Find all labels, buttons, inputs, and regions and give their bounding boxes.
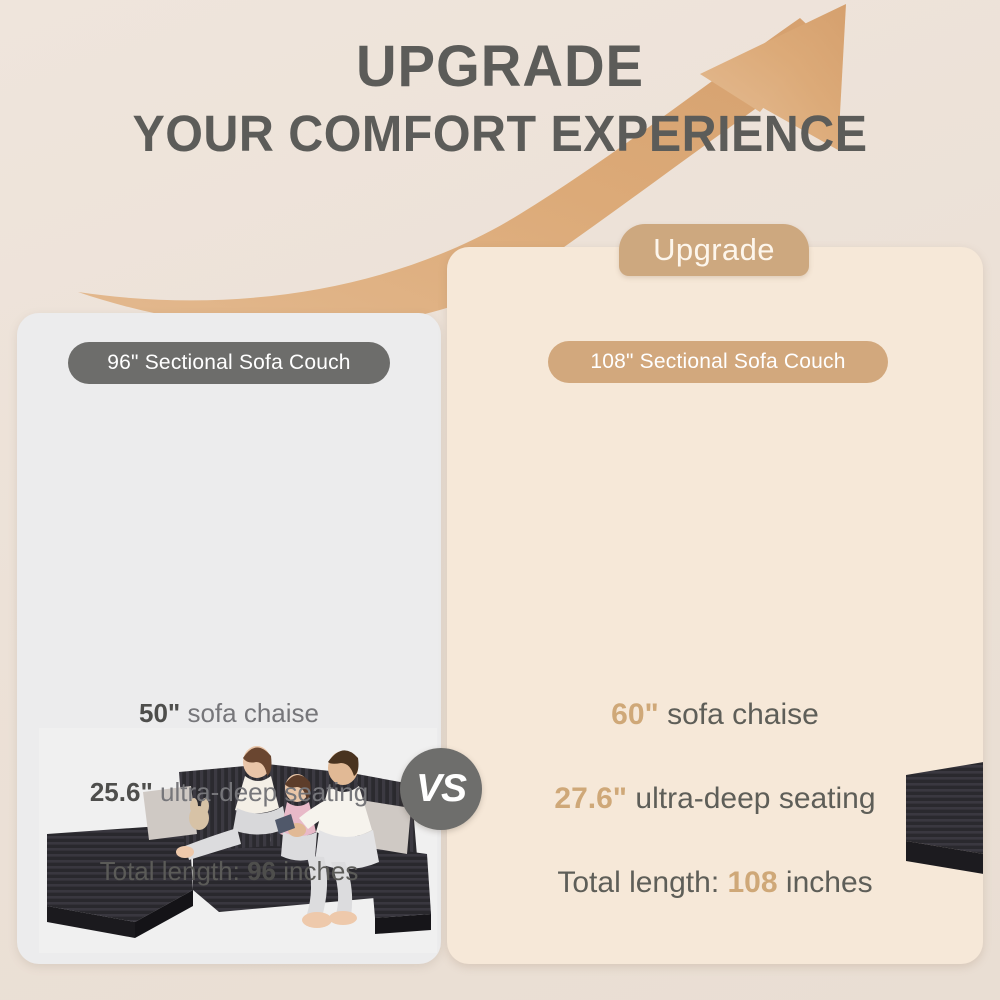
spec-row-chaise: 50" sofa chaise (17, 698, 441, 729)
right-panel-title: 108" Sectional Sofa Couch (590, 350, 845, 374)
spec-row-seating: 25.6" ultra-deep seating (17, 777, 441, 808)
right-chaise-value: 60" (611, 698, 659, 731)
upgrade-badge: Upgrade (619, 224, 809, 276)
headline-line-2: YOUR COMFORT EXPERIENCE (25, 106, 975, 162)
right-chaise-label: sofa chaise (667, 698, 819, 731)
page-title: UPGRADE YOUR COMFORT EXPERIENCE (0, 36, 1000, 162)
left-panel-title: 96" Sectional Sofa Couch (107, 351, 350, 375)
left-total-value: 96 (247, 856, 276, 886)
right-total-suffix: inches (786, 866, 873, 899)
spec-row-total: Total length: 108 inches (447, 866, 983, 900)
left-chaise-value: 50" (139, 698, 180, 728)
upgrade-badge-label: Upgrade (653, 232, 775, 268)
left-seating-value: 25.6" (90, 777, 153, 807)
versus-badge: VS (400, 748, 482, 830)
spec-row-seating: 27.6" ultra-deep seating (447, 782, 983, 816)
infographic-canvas: UPGRADE YOUR COMFORT EXPERIENCE (0, 0, 1000, 1000)
left-total-suffix: inches (283, 856, 358, 886)
right-seating-value: 27.6" (554, 782, 627, 815)
headline-line-1: UPGRADE (15, 36, 985, 98)
spec-row-chaise: 60" sofa chaise (447, 698, 983, 732)
right-seating-label: ultra-deep seating (635, 782, 875, 815)
right-panel-title-pill: 108" Sectional Sofa Couch (548, 341, 888, 383)
left-seating-label: ultra-deep seating (160, 777, 368, 807)
right-total-prefix: Total length: (557, 866, 719, 899)
left-total-prefix: Total length: (100, 856, 240, 886)
right-panel-specs: 60" sofa chaise 27.6" ultra-deep seating… (447, 698, 983, 900)
right-total-value: 108 (728, 866, 778, 899)
versus-label: VS (416, 767, 466, 811)
left-panel-title-pill: 96" Sectional Sofa Couch (68, 342, 390, 384)
left-panel-specs: 50" sofa chaise 25.6" ultra-deep seating… (17, 698, 441, 887)
spec-row-total: Total length: 96 inches (17, 856, 441, 887)
left-chaise-label: sofa chaise (187, 698, 319, 728)
